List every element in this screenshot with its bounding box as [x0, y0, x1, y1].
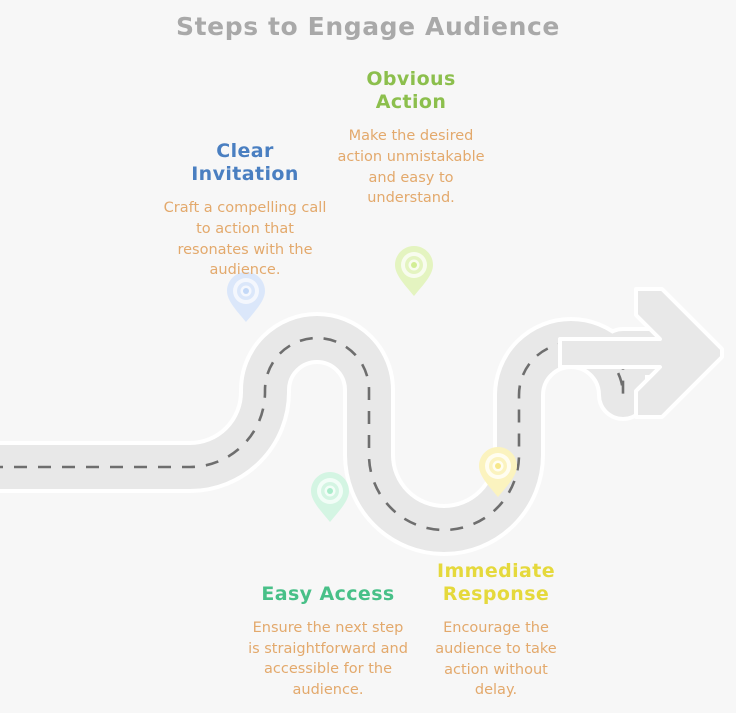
step-immediate-response: Immediate Response Encourage the audienc…	[422, 560, 570, 701]
step-heading: Obvious Action	[336, 68, 486, 114]
map-pin-icon-easy-access	[309, 470, 351, 524]
step-body: Encourage the audience to take action wi…	[422, 618, 570, 700]
map-pin-icon-obvious-action	[393, 244, 435, 298]
step-easy-access: Easy Access Ensure the next step is stra…	[248, 583, 408, 700]
step-heading: Clear Invitation	[160, 140, 330, 186]
step-clear-invitation: Clear Invitation Craft a compelling call…	[160, 140, 330, 281]
step-body: Ensure the next step is straightforward …	[248, 618, 408, 700]
right-arrow-icon	[560, 289, 722, 417]
map-pin-icon-immediate-response	[477, 445, 519, 499]
step-body: Craft a compelling call to action that r…	[160, 198, 330, 280]
step-body: Make the desired action unmistakable and…	[336, 126, 486, 208]
step-heading: Immediate Response	[422, 560, 570, 606]
step-obvious-action: Obvious Action Make the desired action u…	[336, 68, 486, 209]
step-heading: Easy Access	[248, 583, 408, 606]
infographic-canvas: Steps to Engage Audience	[0, 0, 736, 713]
